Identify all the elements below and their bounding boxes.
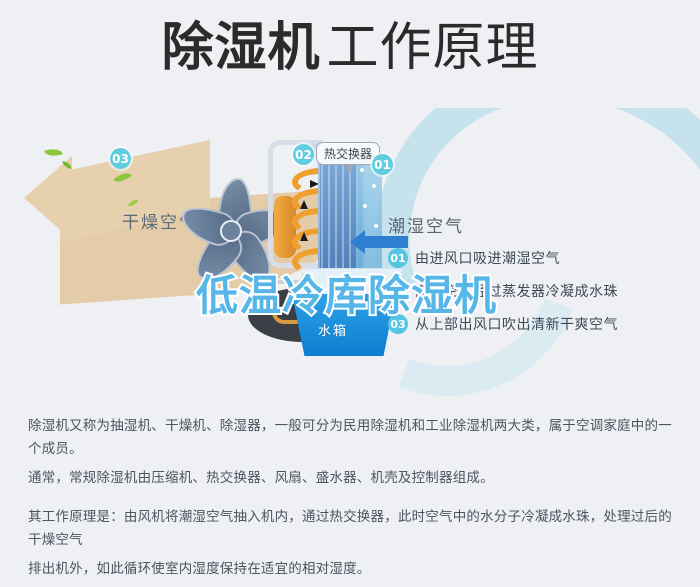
humid-air-intake-arrow-icon bbox=[364, 236, 408, 248]
flow-arrow-up-icon bbox=[300, 232, 308, 241]
paragraph-2: 通常，常规除湿机由压缩机、热交换器、风扇、盛水器、机壳及控制器组成。 bbox=[28, 467, 678, 490]
flow-arrow-up-icon bbox=[300, 200, 308, 209]
dry-air-arrow-head-icon bbox=[24, 156, 72, 240]
paragraph-1: 除湿机又称为抽湿机、干燥机、除湿器，一般可分为民用除湿机和工业除湿机两大类，属于… bbox=[28, 415, 678, 461]
paragraph-4: 排出机外，如此循环使室内湿度保持在适宜的相对湿度。 bbox=[28, 558, 678, 581]
title-primary: 除湿机 bbox=[161, 22, 320, 74]
diagram-badge-03: 03 bbox=[110, 148, 131, 169]
dehumidifier-diagram: 干燥空气 水箱 热交换器 01 02 03 潮湿空 bbox=[0, 108, 700, 398]
watermark-text: 低温冷库除湿机 bbox=[196, 262, 497, 323]
page-title: 除湿机 工作原理 bbox=[0, 22, 700, 74]
diagram-badge-02: 02 bbox=[293, 144, 314, 165]
fan-hub bbox=[220, 220, 242, 242]
heat-exchanger-callout: 热交换器 bbox=[316, 142, 380, 165]
diagram-badge-01: 01 bbox=[372, 154, 393, 175]
description-block: 除湿机又称为抽湿机、干燥机、除湿器，一般可分为民用除湿机和工业除湿机两大类，属于… bbox=[28, 415, 678, 587]
paragraph-3: 其工作原理是：由风机将潮湿空气抽入机内，通过热交换器，此时空气中的水分子冷凝成水… bbox=[28, 506, 678, 552]
humid-air-label: 潮湿空气 bbox=[388, 212, 464, 237]
title-secondary: 工作原理 bbox=[327, 22, 539, 74]
condensation-droplets-icon bbox=[356, 160, 382, 272]
